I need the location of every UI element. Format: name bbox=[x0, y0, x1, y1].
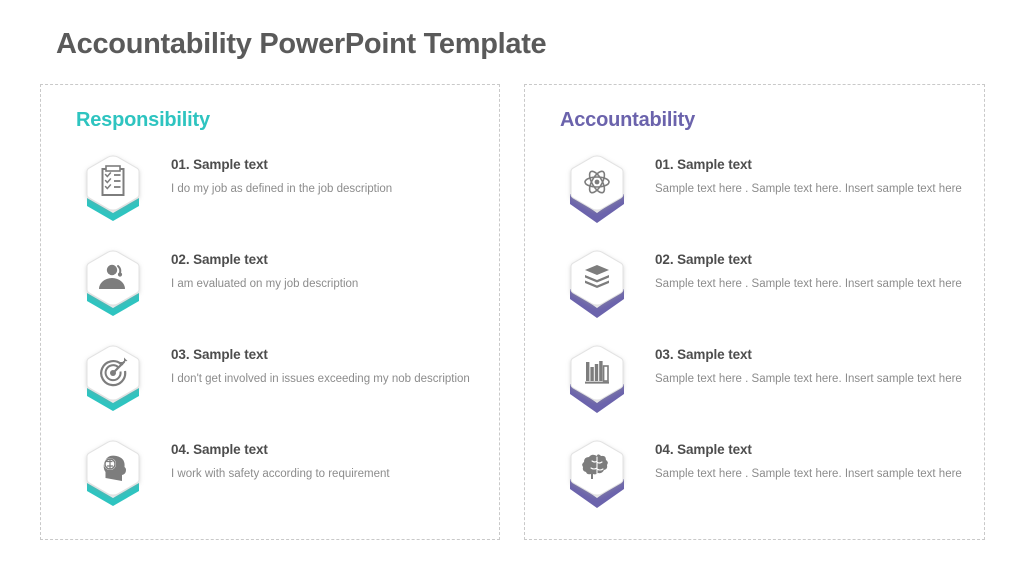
hexagon-badge bbox=[565, 343, 629, 417]
list-item[interactable]: 01. Sample text I do my job as defined i… bbox=[41, 147, 499, 242]
list-item[interactable]: 03. Sample text I don't get involved in … bbox=[41, 337, 499, 432]
item-text-block: 01. Sample text Sample text here . Sampl… bbox=[655, 157, 967, 200]
item-title: 02. Sample text bbox=[655, 252, 967, 267]
panel-heading-accountability: Accountability bbox=[560, 109, 695, 132]
item-title: 01. Sample text bbox=[655, 157, 967, 172]
item-title: 04. Sample text bbox=[171, 442, 481, 457]
hexagon-badge bbox=[565, 153, 629, 227]
item-text-block: 01. Sample text I do my job as defined i… bbox=[171, 157, 481, 200]
item-title: 03. Sample text bbox=[655, 347, 967, 362]
item-text-block: 03. Sample text I don't get involved in … bbox=[171, 347, 481, 390]
hexagon-badge bbox=[565, 248, 629, 322]
panel-heading-responsibility: Responsibility bbox=[76, 109, 210, 132]
item-text-block: 03. Sample text Sample text here . Sampl… bbox=[655, 347, 967, 390]
page-title: Accountability PowerPoint Template bbox=[56, 28, 546, 61]
item-description: I don't get involved in issues exceeding… bbox=[171, 369, 481, 390]
list-item[interactable]: 02. Sample text I am evaluated on my job… bbox=[41, 242, 499, 337]
item-text-block: 04. Sample text I work with safety accor… bbox=[171, 442, 481, 485]
item-text-block: 04. Sample text Sample text here . Sampl… bbox=[655, 442, 967, 485]
list-item[interactable]: 04. Sample text I work with safety accor… bbox=[41, 432, 499, 527]
item-description: Sample text here . Sample text here. Ins… bbox=[655, 179, 967, 200]
item-description: I work with safety according to requirem… bbox=[171, 464, 481, 485]
panel-accountability: Accountability bbox=[524, 84, 985, 540]
item-description: Sample text here . Sample text here. Ins… bbox=[655, 369, 967, 390]
item-text-block: 02. Sample text Sample text here . Sampl… bbox=[655, 252, 967, 295]
item-description: Sample text here . Sample text here. Ins… bbox=[655, 464, 967, 485]
item-description: Sample text here . Sample text here. Ins… bbox=[655, 274, 967, 295]
list-item[interactable]: 01. Sample text Sample text here . Sampl… bbox=[525, 147, 984, 242]
list-item[interactable]: 03. Sample text Sample text here . Sampl… bbox=[525, 337, 984, 432]
list-item[interactable]: 02. Sample text Sample text here . Sampl… bbox=[525, 242, 984, 337]
hexagon-badge bbox=[81, 438, 145, 512]
hexagon-badge bbox=[81, 248, 145, 322]
item-title: 03. Sample text bbox=[171, 347, 481, 362]
hexagon-badge bbox=[81, 343, 145, 417]
item-text-block: 02. Sample text I am evaluated on my job… bbox=[171, 252, 481, 295]
item-description: I am evaluated on my job description bbox=[171, 274, 481, 295]
hexagon-badge bbox=[565, 438, 629, 512]
item-title: 02. Sample text bbox=[171, 252, 481, 267]
panel-responsibility: Responsibility bbox=[40, 84, 500, 540]
item-title: 04. Sample text bbox=[655, 442, 967, 457]
slide-canvas: Accountability PowerPoint Template Respo… bbox=[0, 0, 1024, 576]
list-item[interactable]: 04. Sample text Sample text here . Sampl… bbox=[525, 432, 984, 527]
item-title: 01. Sample text bbox=[171, 157, 481, 172]
item-description: I do my job as defined in the job descri… bbox=[171, 179, 481, 200]
hexagon-badge bbox=[81, 153, 145, 227]
